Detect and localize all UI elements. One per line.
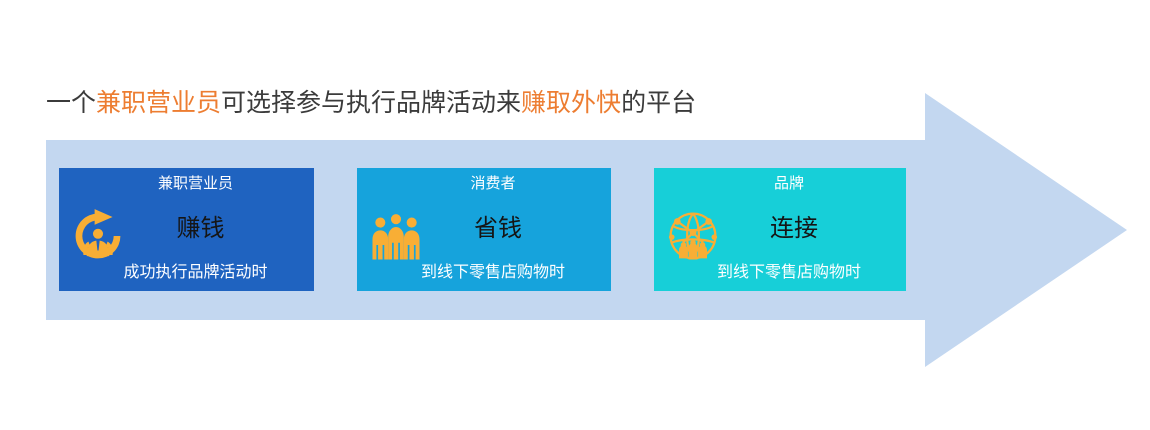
card-header-label: 兼职营业员 <box>59 174 314 194</box>
card-footer-label: 到线下零售店购物时 <box>654 262 906 284</box>
title-segment-accent-2: 赚取外快 <box>521 89 621 117</box>
card-brand[interactable]: 品牌 <box>654 168 906 291</box>
card-main-label: 赚钱 <box>59 214 314 244</box>
card-footer-label: 到线下零售店购物时 <box>357 262 611 284</box>
card-main-label: 省钱 <box>357 214 611 244</box>
title-segment-accent-1: 兼职营业员 <box>96 89 221 117</box>
title-segment-plain-1: 一个 <box>46 89 96 117</box>
card-header-label: 品牌 <box>654 174 906 194</box>
title-segment-plain-2: 可选择参与执行品牌活动来 <box>221 89 521 117</box>
card-footer-label: 成功执行品牌活动时 <box>59 262 314 284</box>
card-consumer[interactable]: 消费者 省钱 到线下零售店购物时 <box>357 168 611 291</box>
card-header-label: 消费者 <box>357 174 611 194</box>
card-part-time-clerk[interactable]: 兼职营业员 赚钱 <box>59 168 314 291</box>
slide-canvas: 一个兼职营业员可选择参与执行品牌活动来赚取外快的平台 兼职营业员 <box>0 0 1150 430</box>
page-title: 一个兼职营业员可选择参与执行品牌活动来赚取外快的平台 <box>46 86 696 120</box>
card-main-label: 连接 <box>654 214 906 244</box>
title-segment-plain-3: 的平台 <box>621 89 696 117</box>
